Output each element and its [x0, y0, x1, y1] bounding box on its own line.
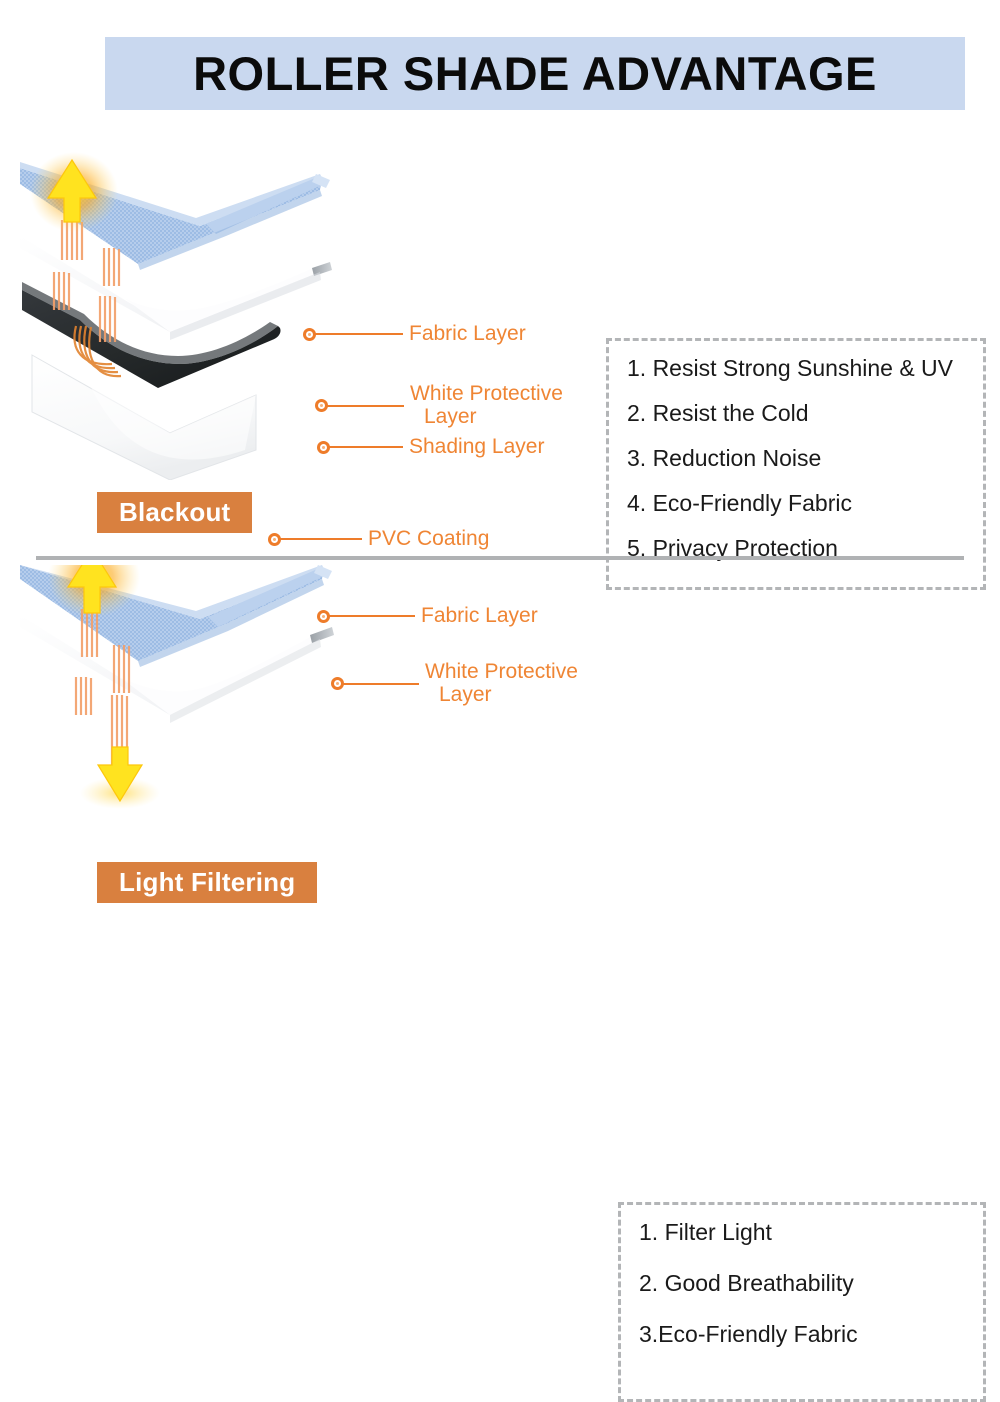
callout-dot-icon	[317, 610, 330, 623]
header-banner: ROLLER SHADE ADVANTAGE	[105, 37, 965, 110]
callout-dot-icon	[315, 399, 328, 412]
status-badge-label: Blackout	[119, 497, 230, 528]
section-blackout: Fabric Layer White Protective Layer Shad…	[0, 130, 1000, 550]
status-badge-label: Light Filtering	[119, 867, 295, 898]
callout-pvc-coating: PVC Coating	[268, 528, 489, 551]
callout-label: PVC Coating	[368, 528, 489, 551]
light-filtering-feature-list: 1. Filter Light 2. Good Breathability 3.…	[618, 1202, 986, 1402]
callout-dot-icon	[268, 533, 281, 546]
section-divider	[36, 556, 964, 560]
callout-fabric-layer: Fabric Layer	[317, 605, 538, 628]
callout-label-line1: White Protective	[425, 660, 578, 683]
callout-shading-layer: Shading Layer	[317, 436, 544, 459]
callout-label-line1: White Protective	[410, 382, 563, 405]
callout-dot-icon	[317, 441, 330, 454]
callout-label: White Protective Layer	[410, 383, 563, 428]
callout-label: White Protective Layer	[425, 661, 578, 706]
callout-leader-line	[327, 405, 404, 407]
callout-white-protective-layer: White Protective Layer	[331, 661, 578, 706]
callout-label: Shading Layer	[409, 436, 544, 459]
section-light-filtering: Fabric Layer White Protective Layer 1. F…	[0, 565, 1000, 925]
callout-white-protective-layer: White Protective Layer	[315, 383, 563, 428]
callout-leader-line	[280, 538, 362, 540]
callout-dot-icon	[303, 328, 316, 341]
list-item: 1. Resist Strong Sunshine & UV	[627, 357, 969, 380]
list-item: 4. Eco-Friendly Fabric	[627, 492, 969, 515]
callout-label-line2: Layer	[410, 406, 563, 429]
callout-dot-icon	[331, 677, 344, 690]
callout-leader-line	[329, 615, 415, 617]
list-item: 3.Eco-Friendly Fabric	[639, 1323, 969, 1346]
list-item: 3. Reduction Noise	[627, 447, 969, 470]
blackout-layer-stack-illustration	[20, 150, 350, 480]
callout-leader-line	[329, 446, 403, 448]
light-filtering-layer-stack-illustration	[20, 565, 350, 825]
callout-label: Fabric Layer	[409, 323, 526, 346]
callout-fabric-layer: Fabric Layer	[303, 323, 526, 346]
list-item: 2. Good Breathability	[639, 1272, 969, 1295]
list-item: 2. Resist the Cold	[627, 402, 969, 425]
callout-label: Fabric Layer	[421, 605, 538, 628]
callout-label-line2: Layer	[425, 684, 578, 707]
status-badge-light-filtering: Light Filtering	[97, 862, 317, 903]
status-badge-blackout: Blackout	[97, 492, 252, 533]
callout-leader-line	[343, 683, 419, 685]
callout-leader-line	[315, 333, 403, 335]
blackout-feature-list: 1. Resist Strong Sunshine & UV 2. Resist…	[606, 338, 986, 590]
page-title: ROLLER SHADE ADVANTAGE	[193, 46, 877, 101]
list-item: 1. Filter Light	[639, 1221, 969, 1244]
